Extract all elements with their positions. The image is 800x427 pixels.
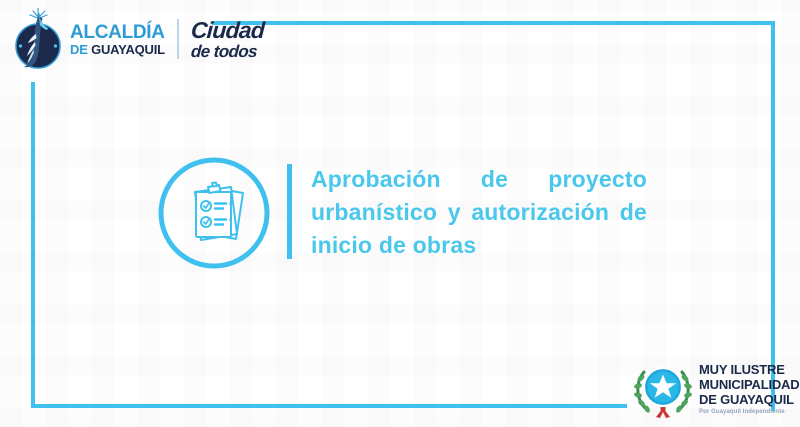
frame-line-left [31,82,35,408]
slide-canvas: ALCALDÍA DE GUAYAQUIL Ciudad de todos [0,0,800,427]
frame-line-right [771,21,775,411]
municipality-seal-wordmark: MUY ILUSTRE MUNICIPALIDAD DE GUAYAQUIL P… [699,363,799,415]
frame-line-bottom [31,404,627,408]
ciudad-line2: de todos [190,43,264,60]
municipality-seal-group: MUY ILUSTRE MUNICIPALIDAD DE GUAYAQUIL P… [632,358,799,420]
seal-tagline: Por Guayaquil Independiente [699,409,799,415]
alcaldia-title-line2: DE GUAYAQUIL [70,43,165,56]
alcaldia-wordmark: ALCALDÍA DE GUAYAQUIL [70,23,165,56]
alcaldia-title-city: GUAYAQUIL [91,42,165,57]
ciudad-de-todos-wordmark: Ciudad de todos [191,19,264,60]
alcaldia-emblem-icon [12,8,64,70]
alcaldia-title-de: DE [70,42,91,57]
heading-accent-divider [287,164,292,259]
page-title: Aprobación de proyecto urbanístico y aut… [311,163,647,262]
logo-divider [177,19,179,59]
header-logo-group: ALCALDÍA DE GUAYAQUIL Ciudad de todos [12,8,264,70]
frame-line-top [212,21,775,25]
alcaldia-title-line1: ALCALDÍA [70,23,165,42]
ciudad-line1: Ciudad [190,19,265,42]
seal-line2: MUNICIPALIDAD [699,378,799,391]
checklist-documents-icon [157,156,271,270]
guayaquil-coat-of-arms-icon [632,358,694,420]
seal-line3: DE GUAYAQUIL [699,393,799,406]
seal-line1: MUY ILUSTRE [699,363,799,376]
